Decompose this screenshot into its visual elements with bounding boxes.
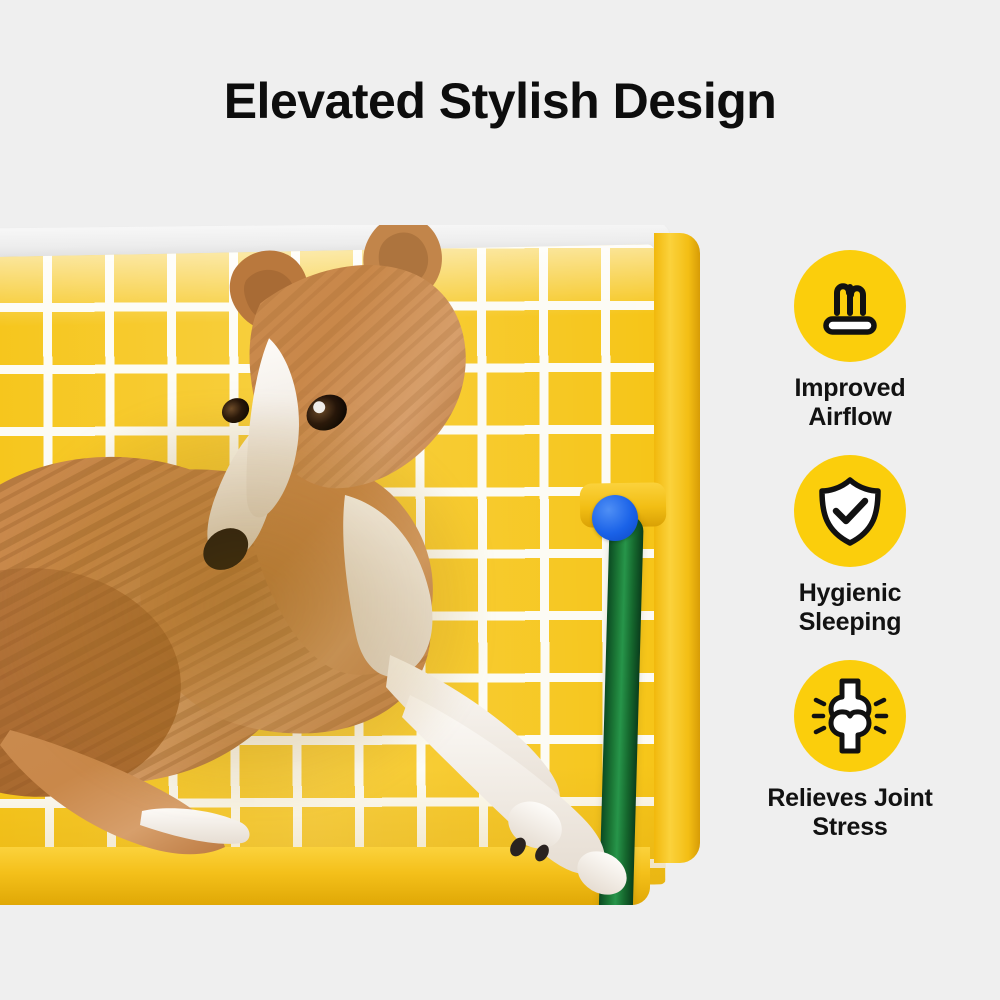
- feature-list: Improved Airflow Hygienic Sleeping: [700, 250, 1000, 865]
- airflow-icon: [811, 267, 889, 345]
- feature-badge-joint: [794, 660, 906, 772]
- feature-label-line1: Hygienic: [700, 579, 1000, 608]
- joint-bone-icon: [811, 677, 889, 755]
- feature-label-hygienic: Hygienic Sleeping: [700, 579, 1000, 636]
- shield-check-icon: [812, 473, 888, 549]
- feature-label-airflow: Improved Airflow: [700, 374, 1000, 431]
- page-title: Elevated Stylish Design: [0, 76, 1000, 126]
- feature-badge-airflow: [794, 250, 906, 362]
- dog-shadow: [10, 405, 480, 805]
- dog-photo: [0, 225, 700, 905]
- product-photo: VETRESKA: [0, 225, 700, 905]
- feature-label-line2: Stress: [700, 813, 1000, 842]
- feature-badge-hygienic: [794, 455, 906, 567]
- feature-label-line2: Airflow: [700, 403, 1000, 432]
- feature-label-line2: Sleeping: [700, 608, 1000, 637]
- feature-label-line1: Improved: [700, 374, 1000, 403]
- feature-item-joint: Relieves Joint Stress: [700, 660, 1000, 841]
- feature-label-line1: Relieves Joint: [700, 784, 1000, 813]
- feature-item-airflow: Improved Airflow: [700, 250, 1000, 431]
- feature-label-joint: Relieves Joint Stress: [700, 784, 1000, 841]
- feature-item-hygienic: Hygienic Sleeping: [700, 455, 1000, 636]
- product-feature-image: Elevated Stylish Design VETRESKA: [0, 0, 1000, 1000]
